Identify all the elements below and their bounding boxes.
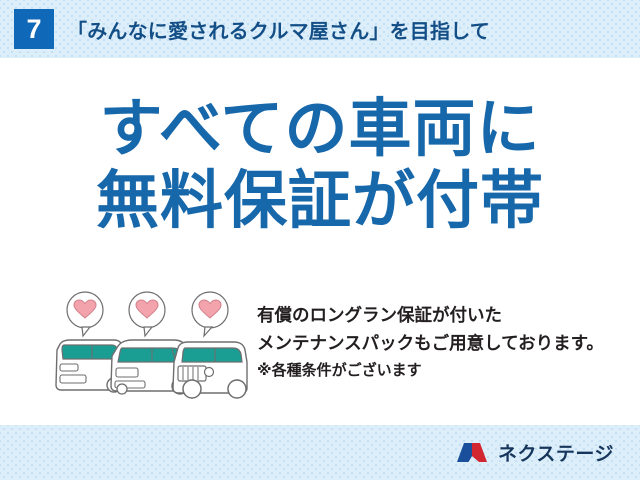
cars-and-hearts-svg <box>52 290 252 400</box>
brand-logo: ネクステージ <box>455 439 614 466</box>
main-content: すべての車両に 無料保証が付帯 <box>0 58 640 425</box>
nextage-n-mark-icon <box>455 440 489 466</box>
headline: すべての車両に 無料保証が付帯 <box>0 96 640 233</box>
car-suv-wrangler <box>173 342 247 398</box>
body-text: 有償のロングラン保証が付いた メンテナンスパックもご用意しております。 ※各種条… <box>257 301 637 383</box>
headline-line-2: 無料保証が付帯 <box>0 168 640 234</box>
body-line-1: 有償のロングラン保証が付いた <box>257 305 502 325</box>
footer-bar: ネクステージ <box>0 425 640 480</box>
header-title: 「みんなに愛されるクルマ屋さん」を目指して <box>67 15 490 44</box>
header-bar: 7 「みんなに愛されるクルマ屋さん」を目指して <box>0 0 640 58</box>
advertisement-poster: 7 「みんなに愛されるクルマ屋さん」を目指して すべての車両に 無料保証が付帯 <box>0 0 640 480</box>
speech-bubble-1 <box>67 292 103 336</box>
speech-bubble-2 <box>129 292 165 336</box>
body-line-2: メンテナンスパックもご用意しております。 <box>257 333 604 353</box>
body-line-3-note: ※各種条件がございます <box>257 359 637 383</box>
car-illustration <box>52 290 252 400</box>
section-number-badge: 7 <box>14 9 54 49</box>
brand-name: ネクステージ <box>498 439 614 466</box>
speech-bubble-3 <box>192 292 228 336</box>
headline-line-1: すべての車両に <box>99 92 540 165</box>
